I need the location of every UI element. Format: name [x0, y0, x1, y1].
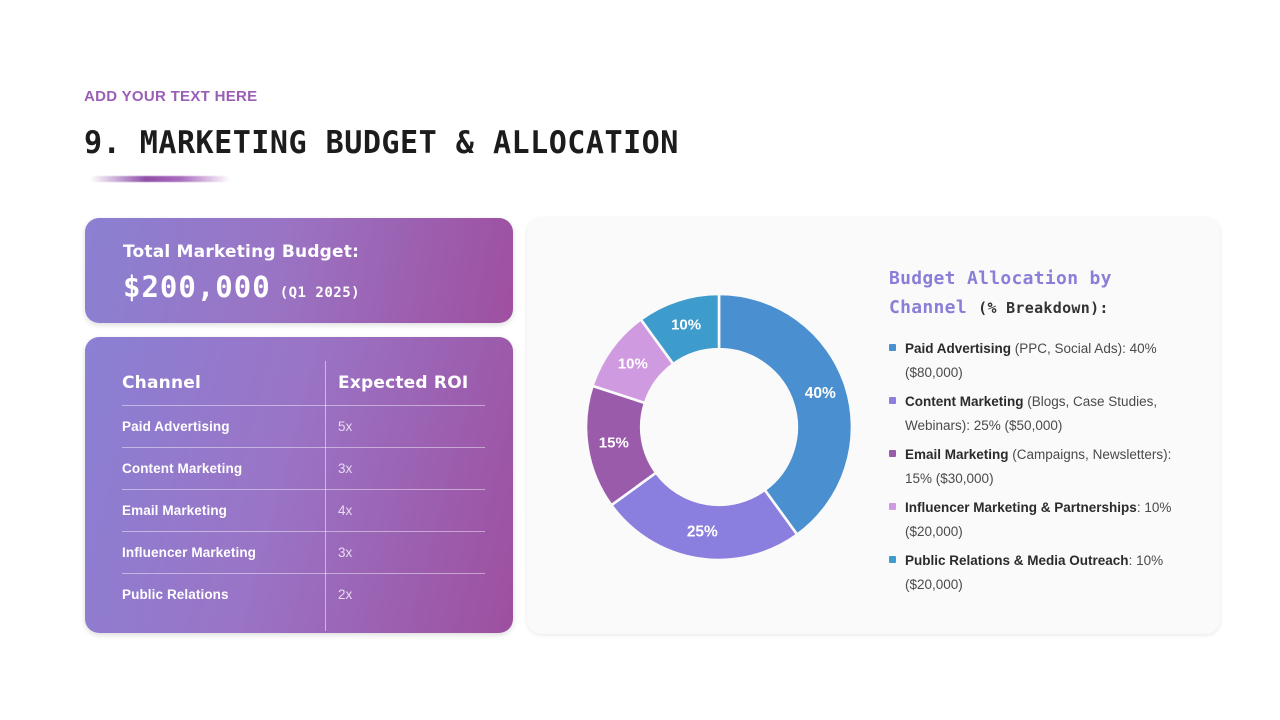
table-row: Content Marketing 3x	[122, 448, 483, 489]
donut-slice-group	[586, 294, 852, 560]
legend-item-text: Public Relations & Media Outreach: 10% (…	[905, 549, 1184, 596]
list-item: Paid Advertising (PPC, Social Ads): 40% …	[889, 337, 1184, 384]
table-row: Paid Advertising 5x	[122, 406, 483, 447]
cell-roi: 3x	[325, 461, 483, 476]
cell-channel: Influencer Marketing	[122, 545, 325, 560]
list-item: Influencer Marketing & Partnerships: 10%…	[889, 496, 1184, 543]
page-title: 9. MARKETING BUDGET & ALLOCATION	[84, 125, 679, 161]
total-budget-value-row: $200,000 (Q1 2025)	[123, 270, 360, 304]
cell-channel: Public Relations	[122, 587, 325, 602]
donut-slice-label: 25%	[687, 523, 718, 540]
legend-item-name: Influencer Marketing & Partnerships	[905, 500, 1137, 515]
cell-roi: 4x	[325, 503, 483, 518]
cell-channel: Paid Advertising	[122, 419, 325, 434]
donut-slice-label: 15%	[599, 435, 629, 452]
table-header-channel: Channel	[122, 373, 325, 393]
slide-root: ADD YOUR TEXT HERE 9. MARKETING BUDGET &…	[0, 0, 1280, 720]
legend-item-name: Public Relations & Media Outreach	[905, 553, 1129, 568]
roi-table: Channel Expected ROI Paid Advertising 5x…	[122, 361, 483, 615]
legend-bullet-icon	[889, 397, 896, 404]
chart-legend: Budget Allocation by Channel (% Breakdow…	[889, 264, 1184, 602]
total-budget-label: Total Marketing Budget:	[123, 242, 359, 262]
title-underline-accent	[90, 176, 230, 182]
donut-slice-label: 40%	[805, 385, 836, 402]
cell-roi: 5x	[325, 419, 483, 434]
legend-item-name: Content Marketing	[905, 394, 1024, 409]
legend-item-text: Content Marketing (Blogs, Case Studies, …	[905, 390, 1184, 437]
table-row: Email Marketing 4x	[122, 490, 483, 531]
total-budget-card: Total Marketing Budget: $200,000 (Q1 202…	[85, 218, 513, 323]
eyebrow-text: ADD YOUR TEXT HERE	[84, 88, 257, 105]
allocation-panel: 40%25%15%10%10% Budget Allocation by Cha…	[527, 218, 1220, 634]
cell-roi: 2x	[325, 587, 483, 602]
legend-item-text: Paid Advertising (PPC, Social Ads): 40% …	[905, 337, 1184, 384]
legend-list: Paid Advertising (PPC, Social Ads): 40% …	[889, 337, 1184, 596]
list-item: Email Marketing (Campaigns, Newsletters)…	[889, 443, 1184, 490]
donut-slice[interactable]	[719, 294, 852, 535]
roi-table-card: Channel Expected ROI Paid Advertising 5x…	[85, 337, 513, 633]
table-header-roi: Expected ROI	[325, 373, 483, 393]
legend-item-text: Influencer Marketing & Partnerships: 10%…	[905, 496, 1184, 543]
total-budget-amount: $200,000	[123, 270, 271, 304]
list-item: Content Marketing (Blogs, Case Studies, …	[889, 390, 1184, 437]
table-header-row: Channel Expected ROI	[122, 361, 483, 405]
legend-bullet-icon	[889, 556, 896, 563]
table-row: Public Relations 2x	[122, 574, 483, 615]
legend-bullet-icon	[889, 344, 896, 351]
table-row: Influencer Marketing 3x	[122, 532, 483, 573]
cell-roi: 3x	[325, 545, 483, 560]
list-item: Public Relations & Media Outreach: 10% (…	[889, 549, 1184, 596]
legend-title-sub: (% Breakdown):	[978, 299, 1109, 317]
donut-chart-svg: 40%25%15%10%10%	[584, 292, 854, 562]
donut-slice-label: 10%	[618, 355, 648, 372]
legend-title: Budget Allocation by Channel (% Breakdow…	[889, 264, 1184, 323]
legend-item-name: Paid Advertising	[905, 341, 1011, 356]
cell-channel: Email Marketing	[122, 503, 325, 518]
legend-bullet-icon	[889, 450, 896, 457]
donut-slice-label: 10%	[671, 317, 701, 334]
total-budget-period: (Q1 2025)	[280, 285, 360, 301]
legend-item-text: Email Marketing (Campaigns, Newsletters)…	[905, 443, 1184, 490]
donut-chart: 40%25%15%10%10%	[584, 292, 854, 562]
legend-bullet-icon	[889, 503, 896, 510]
cell-channel: Content Marketing	[122, 461, 325, 476]
legend-item-name: Email Marketing	[905, 447, 1009, 462]
